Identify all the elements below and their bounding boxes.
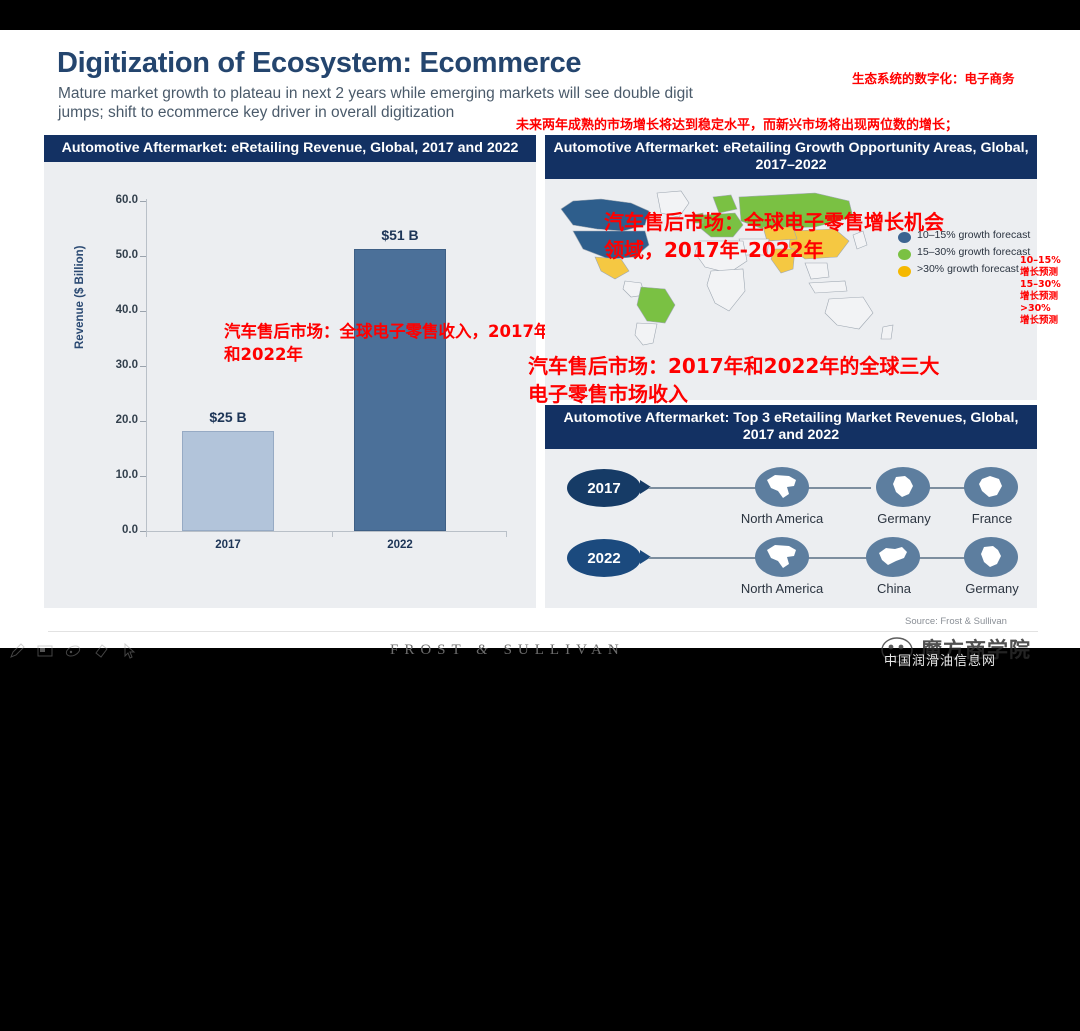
pen-icon[interactable] — [8, 642, 26, 660]
year-label-2017: 2017 — [587, 480, 620, 497]
legend-label-over-30: >30% growth forecast — [917, 263, 1019, 276]
france-map-icon — [977, 475, 1005, 499]
node-france-2017[interactable] — [964, 467, 1018, 507]
y-tick: 20.0 — [96, 414, 138, 426]
slide-stage: Digitization of Ecosystem: Ecommerce Mat… — [0, 0, 1080, 675]
top3-rows: 2017 North America 北美 G — [545, 451, 1037, 608]
footer-divider — [48, 631, 1038, 632]
connector-line — [649, 487, 761, 489]
year-pill-2017: 2017 — [567, 469, 641, 507]
annotation-title-cn: 生态系统的数字化：电子商务 — [852, 68, 1015, 87]
node-label-france-2017: France — [927, 511, 1057, 526]
source-note: Source: Frost & Sullivan — [905, 616, 1007, 627]
panel-title-map: Automotive Aftermarket: eRetailing Growt… — [545, 135, 1037, 179]
connector-line — [807, 487, 871, 489]
annotation-top3-cn: 汽车售后市场：2017年和2022年的全球三大电子零售市场收入 — [528, 352, 958, 408]
highlighter-icon[interactable] — [64, 642, 82, 660]
panel-top3-markets: Automotive Aftermarket: Top 3 eRetailing… — [545, 405, 1037, 608]
bar-2022[interactable] — [354, 249, 446, 531]
wordmark-frost: FROST — [390, 642, 466, 658]
eraser-icon[interactable] — [92, 642, 110, 660]
node-label-north-america-2022: North America — [717, 581, 847, 596]
y-tick: 0.0 — [96, 524, 138, 536]
x-tick-2017: 2017 — [182, 539, 274, 551]
north-america-map-icon — [765, 544, 799, 570]
tick-mark — [332, 531, 333, 537]
wordmark-ampersand: & — [476, 642, 494, 658]
germany-map-icon — [978, 545, 1004, 569]
legend-dot-yellow-icon — [898, 266, 911, 277]
year-label-2022: 2022 — [587, 550, 620, 567]
wordmark-sullivan: SULLIVAN — [504, 642, 625, 658]
bar-value-label-2022: $51 B — [354, 227, 446, 243]
annotation-map-cn: 汽车售后市场：全球电子零售增长机会领域，2017年-2022年 — [604, 208, 954, 264]
node-germany-2017[interactable] — [876, 467, 930, 507]
node-china-2022[interactable] — [866, 537, 920, 577]
bar-value-label-2017: $25 B — [182, 409, 274, 425]
slide-icon[interactable] — [36, 642, 54, 660]
y-tick: 50.0 — [96, 249, 138, 261]
north-america-map-icon — [765, 474, 799, 500]
x-tick-2022: 2022 — [354, 539, 446, 551]
pointer-icon[interactable] — [120, 642, 138, 660]
node-north-america-2017[interactable] — [755, 467, 809, 507]
year-pill-2022: 2022 — [567, 539, 641, 577]
annotation-chart-cn: 汽车售后市场：全球电子零售收入，2017年和2022年 — [224, 320, 554, 366]
germany-map-icon — [890, 475, 916, 499]
y-axis-label: Revenue ($ Billion) — [74, 245, 86, 349]
annotation-subtitle-cn-line1: 未来两年成熟的市场增长将达到稳定水平，而新兴市场将出现两位数的增长； — [516, 114, 958, 133]
china-map-icon — [876, 545, 910, 569]
y-tick: 40.0 — [96, 304, 138, 316]
annotation-toolbar[interactable] — [8, 642, 138, 660]
y-tick: 10.0 — [96, 469, 138, 481]
node-label-germany-2022: Germany — [927, 581, 1057, 596]
panel-title-revenue: Automotive Aftermarket: eRetailing Reven… — [44, 135, 536, 162]
bar-2017[interactable] — [182, 431, 274, 531]
connector-line — [807, 557, 871, 559]
watermark-bottom-text: 中国润滑油信息网 — [884, 650, 996, 669]
node-label-north-america-2017: North America — [717, 511, 847, 526]
connector-line — [649, 557, 761, 559]
tick-mark — [146, 531, 147, 537]
panel-eretailing-revenue: Automotive Aftermarket: eRetailing Reven… — [44, 135, 536, 608]
annotation-legend-cn: 10–15% 增长预测 15–30% 增长预测 >30% 增长预测 — [1020, 255, 1080, 327]
y-axis-ticks: 0.0 10.0 20.0 30.0 40.0 50.0 60.0 — [96, 199, 138, 529]
bar-chart: Revenue ($ Billion) 0.0 10.0 20.0 30.0 4… — [44, 181, 536, 608]
page-title: Digitization of Ecosystem: Ecommerce — [57, 47, 581, 80]
letterbox-top — [0, 0, 1080, 30]
panel-title-top3: Automotive Aftermarket: Top 3 eRetailing… — [545, 405, 1037, 449]
frost-sullivan-wordmark: FROST & SULLIVAN — [390, 642, 625, 659]
node-north-america-2022[interactable] — [755, 537, 809, 577]
presentation-slide: Digitization of Ecosystem: Ecommerce Mat… — [0, 30, 1080, 648]
node-germany-2022[interactable] — [964, 537, 1018, 577]
x-axis-line — [146, 531, 506, 532]
y-tick: 30.0 — [96, 359, 138, 371]
y-tick: 60.0 — [96, 194, 138, 206]
tick-mark — [506, 531, 507, 537]
legend-item: >30% growth forecast — [898, 263, 1033, 277]
